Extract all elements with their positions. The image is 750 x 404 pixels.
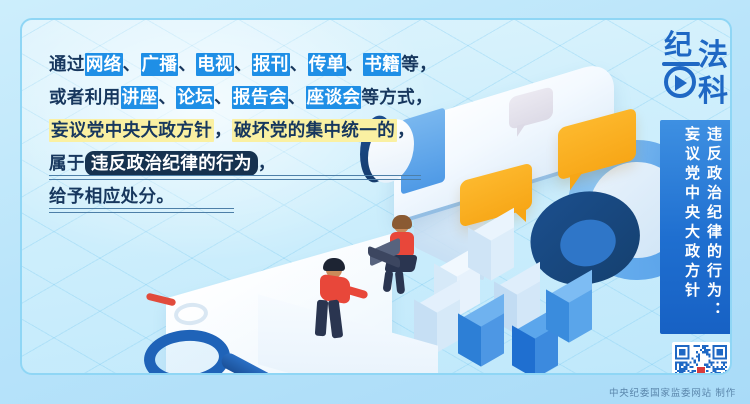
brand-logo[interactable]: 纪 法 科 <box>662 30 732 112</box>
qr-code[interactable] <box>672 342 730 375</box>
logo-char-ke: 科 <box>698 78 728 106</box>
content-panel: 通过网络、广播、电视、报刊、传单、书籍等， 或者利用讲座、论坛、报告会、座谈会等… <box>20 18 732 375</box>
right-rail: 纪 法 科 违反政治纪律的行为： 妄议党中央大政方针 <box>650 20 732 375</box>
isometric-cube-blue <box>546 296 592 342</box>
text-run: 或者利用 <box>49 87 121 107</box>
highlight-term: 广播 <box>141 53 179 76</box>
logo-char-ji: 纪 <box>664 32 692 60</box>
highlight-term: 传单 <box>308 53 346 76</box>
copy-line-1: 通过网络、广播、电视、报刊、传单、书籍等， <box>49 54 449 74</box>
copy-line-3: 妄议党中央大政方针，破坏党的集中统一的， <box>49 120 449 140</box>
magnifier-handle-small <box>146 292 177 306</box>
infographic-poster: 通过网络、广播、电视、报刊、传单、书籍等， 或者利用讲座、论坛、报告会、座谈会等… <box>0 0 750 404</box>
text-run: 、 <box>234 54 252 74</box>
text-run: 、 <box>288 87 306 107</box>
text-run: 、 <box>214 87 232 107</box>
isometric-cube <box>468 234 514 280</box>
highlight-term-yellow: 破坏党的集中统一的 <box>232 119 397 142</box>
banner-column-right: 违反政治纪律的行为： <box>705 126 721 330</box>
highlight-term: 报刊 <box>252 53 290 76</box>
text-run: ， <box>214 120 232 140</box>
highlight-term: 座谈会 <box>306 86 362 109</box>
footer-credit: 中央纪委国家监委网站 制作 <box>609 385 736 399</box>
text-run: 通过 <box>49 54 85 74</box>
text-run: 等， <box>401 54 437 74</box>
qr-code-pattern <box>675 345 727 375</box>
highlight-term-dark: 违反政治纪律的行为 <box>85 151 258 176</box>
text-run: 给予相应处分。 <box>49 186 174 206</box>
text-run: 等方式， <box>361 87 433 107</box>
copy-line-5: 给予相应处分。 <box>49 186 449 206</box>
person-hair <box>392 215 412 229</box>
text-run: 、 <box>123 54 141 74</box>
highlight-term: 网络 <box>85 53 123 76</box>
text-run: 、 <box>346 54 364 74</box>
logo-char-fa: 法 <box>698 42 728 70</box>
highlight-term-yellow: 妄议党中央大政方针 <box>49 119 214 142</box>
banner-column-left: 妄议党中央大政方针 <box>683 126 699 330</box>
highlight-term: 电视 <box>196 53 234 76</box>
text-run: 属于 <box>49 153 85 173</box>
text-run: ， <box>397 120 415 140</box>
play-triangle-icon <box>675 75 687 91</box>
highlight-term: 书籍 <box>363 53 401 76</box>
text-run: 、 <box>158 87 176 107</box>
highlight-term: 报告会 <box>232 86 288 109</box>
highlight-term: 讲座 <box>121 86 159 109</box>
highlight-term: 论坛 <box>176 86 214 109</box>
text-run: 、 <box>178 54 196 74</box>
person-hair <box>323 258 345 271</box>
text-run: ， <box>258 153 276 173</box>
copy-line-4: 属于违反政治纪律的行为， <box>49 153 449 173</box>
isometric-cube-blue <box>458 320 504 366</box>
main-copy: 通过网络、广播、电视、报刊、传单、书籍等， 或者利用讲座、论坛、报告会、座谈会等… <box>49 54 449 206</box>
bubble-tail <box>514 208 526 225</box>
text-run: 、 <box>290 54 308 74</box>
vertical-title-banner: 违反政治纪律的行为： 妄议党中央大政方针 <box>660 120 732 334</box>
copy-line-2: 或者利用讲座、论坛、报告会、座谈会等方式， <box>49 87 449 107</box>
person-leg <box>395 270 405 295</box>
